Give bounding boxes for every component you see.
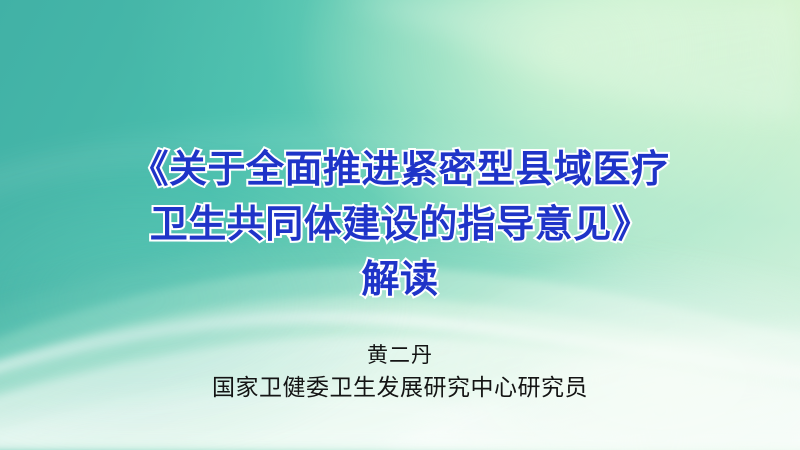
slide-title-line-2: 卫生共同体建设的指导意见》 xyxy=(0,198,800,253)
slide-title-line-3: 解读 xyxy=(0,253,800,308)
slide-title-line-1: 《关于全面推进紧密型县域医疗 xyxy=(0,143,800,198)
presenter-name: 黄二丹 xyxy=(0,340,800,371)
presenter-affiliation: 国家卫健委卫生发展研究中心研究员 xyxy=(0,371,800,403)
presenter-info: 黄二丹 国家卫健委卫生发展研究中心研究员 xyxy=(0,340,800,403)
presentation-slide: 《关于全面推进紧密型县域医疗 卫生共同体建设的指导意见》 解读 黄二丹 国家卫健… xyxy=(0,0,800,450)
slide-title: 《关于全面推进紧密型县域医疗 卫生共同体建设的指导意见》 解读 xyxy=(0,143,800,308)
